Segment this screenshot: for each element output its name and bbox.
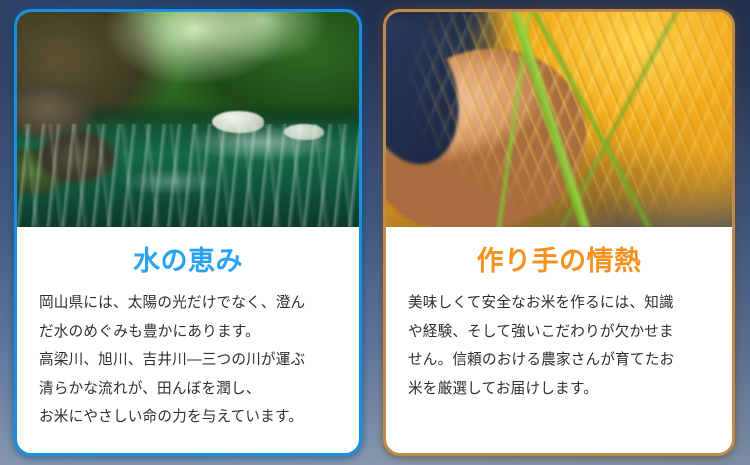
- text-line: せん。信頼のおける農家さんが育てたお: [408, 346, 710, 374]
- text-line: 清らかな流れが、田んぼを潤し、: [39, 375, 337, 403]
- card-text-passion: 美味しくて安全なお米を作るには、知識 や経験、そして強いこだわりが欠かせま せん…: [408, 289, 710, 403]
- rice-harvest-photo: [386, 12, 732, 227]
- rice-leaves-icon: [386, 12, 732, 227]
- text-line: だ水のめぐみも豊かにあります。: [39, 318, 337, 346]
- text-line: 岡山県には、太陽の光だけでなく、澄ん: [39, 289, 337, 317]
- text-line: 米を厳選してお届けします。: [408, 375, 710, 403]
- card-text-water: 岡山県には、太陽の光だけでなく、澄ん だ水のめぐみも豊かにあります。 高梁川、旭…: [39, 289, 337, 431]
- river-rock-icon: [212, 111, 264, 133]
- card-water-blessing[interactable]: 水の恵み 岡山県には、太陽の光だけでなく、澄ん だ水のめぐみも豊かにあります。 …: [14, 9, 362, 456]
- river-gorge-photo: [17, 12, 359, 227]
- card-makers-passion[interactable]: 作り手の情熱 美味しくて安全なお米を作るには、知識 や経験、そして強いこだわりが…: [383, 9, 735, 456]
- text-line: 高梁川、旭川、吉井川―三つの川が運ぶ: [39, 346, 337, 374]
- page-background: 水の恵み 岡山県には、太陽の光だけでなく、澄ん だ水のめぐみも豊かにあります。 …: [0, 0, 750, 465]
- text-line: 美味しくて安全なお米を作るには、知識: [408, 289, 710, 317]
- text-line: や経験、そして強いこだわりが欠かせま: [408, 318, 710, 346]
- card-title-passion: 作り手の情熱: [408, 243, 710, 279]
- card-title-water: 水の恵み: [39, 243, 337, 279]
- card-body-water: 水の恵み 岡山県には、太陽の光だけでなく、澄ん だ水のめぐみも豊かにあります。 …: [17, 227, 359, 432]
- card-body-passion: 作り手の情熱 美味しくて安全なお米を作るには、知識 や経験、そして強いこだわりが…: [386, 227, 732, 403]
- river-rock-secondary-icon: [284, 124, 324, 140]
- text-line: お米にやさしい命の力を与えています。: [39, 403, 337, 431]
